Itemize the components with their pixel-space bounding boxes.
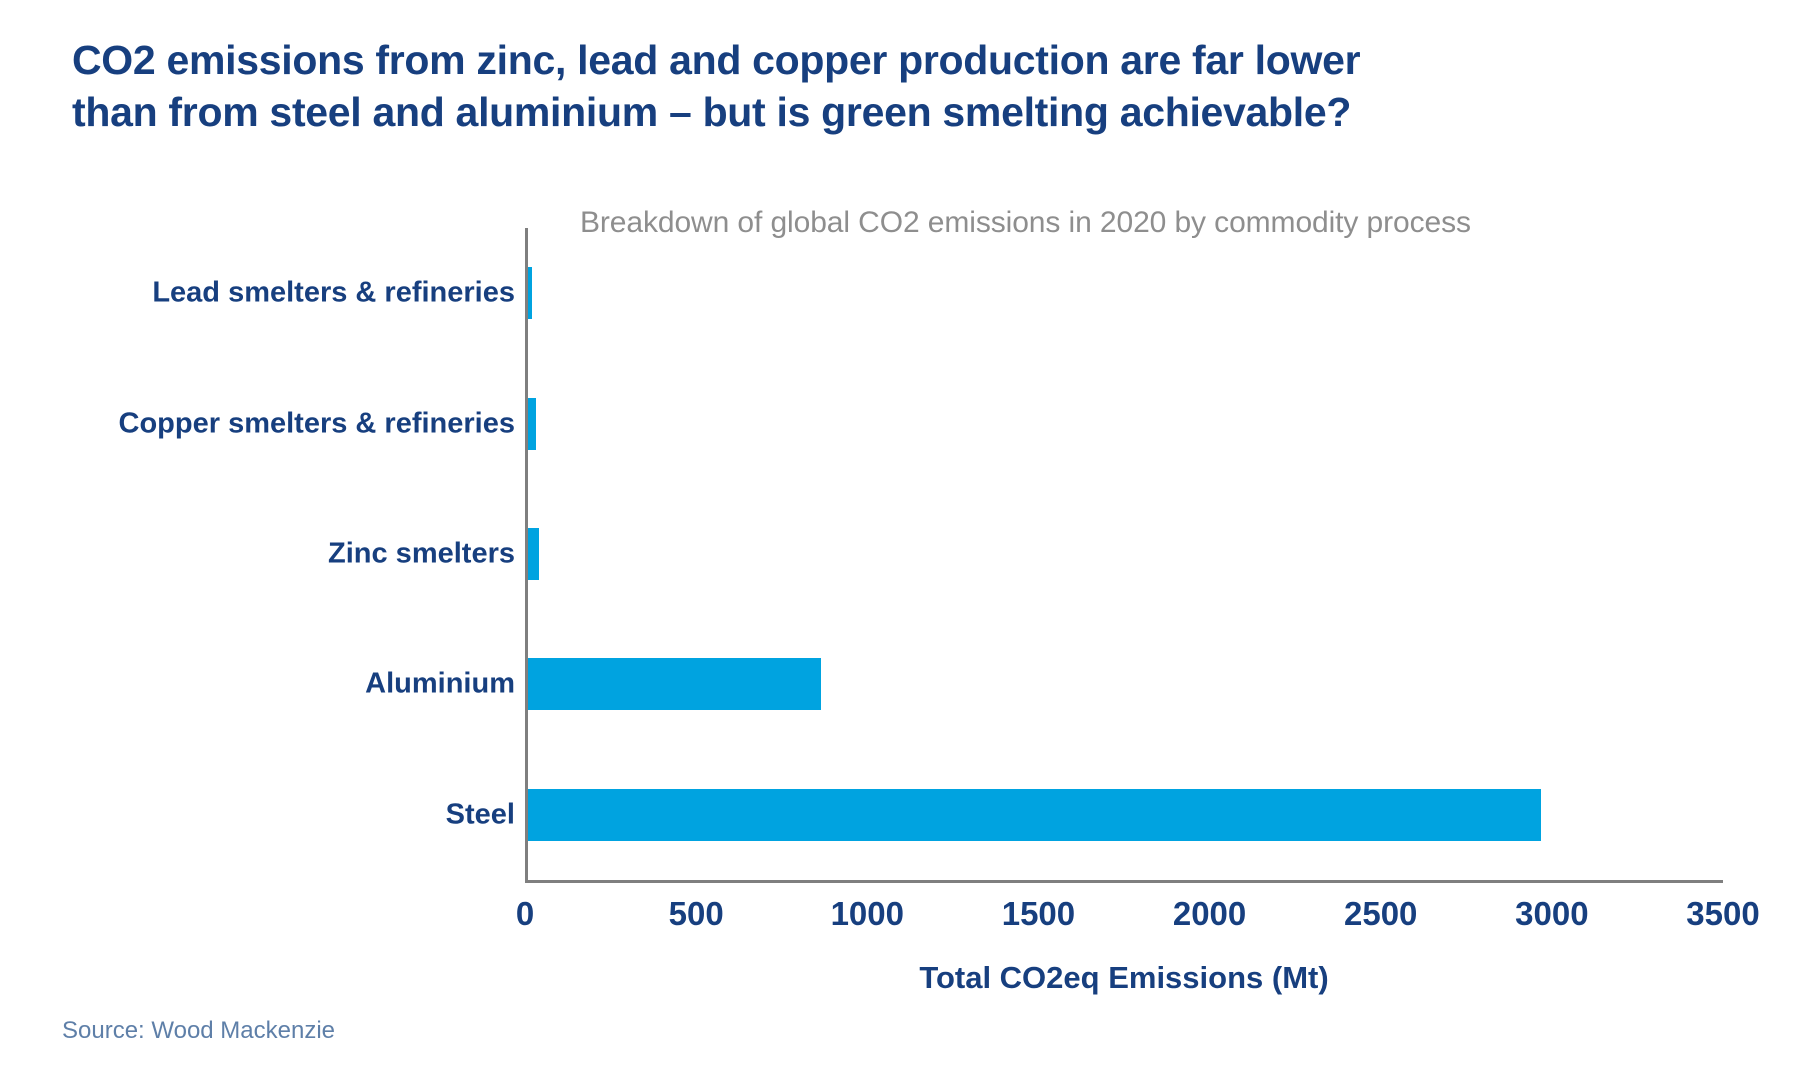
source-note: Source: Wood Mackenzie — [62, 1017, 335, 1045]
x-axis-tick-label: 3500 — [1686, 895, 1759, 933]
bar-chart: Breakdown of global CO2 emissions in 202… — [0, 0, 1800, 1080]
x-axis-title: Total CO2eq Emissions (Mt) — [525, 960, 1723, 996]
x-axis-tick-label: 500 — [669, 895, 724, 933]
y-axis-tick-label: Copper smelters & refineries — [119, 407, 515, 440]
x-axis-line — [525, 880, 1723, 883]
x-axis-tick-label: 3000 — [1515, 895, 1588, 933]
bar — [528, 789, 1541, 841]
bar — [528, 658, 821, 710]
bar — [528, 528, 539, 580]
y-axis-tick-label: Steel — [446, 798, 515, 831]
bar — [528, 398, 536, 450]
y-axis-tick-label: Zinc smelters — [328, 537, 515, 570]
bar — [528, 267, 532, 319]
y-axis-tick-label: Lead smelters & refineries — [152, 277, 515, 310]
bar-row: Steel — [0, 750, 1800, 880]
x-axis-tick-label: 1000 — [831, 895, 904, 933]
x-axis-tick-label: 0 — [516, 895, 534, 933]
x-axis-tick-label: 2500 — [1344, 895, 1417, 933]
x-axis-tick-label: 2000 — [1173, 895, 1246, 933]
bar-row: Zinc smelters — [0, 489, 1800, 619]
bar-row: Lead smelters & refineries — [0, 228, 1800, 358]
bar-row: Aluminium — [0, 619, 1800, 749]
bar-row: Copper smelters & refineries — [0, 358, 1800, 488]
x-axis-tick-label: 1500 — [1002, 895, 1075, 933]
y-axis-tick-label: Aluminium — [365, 668, 515, 701]
